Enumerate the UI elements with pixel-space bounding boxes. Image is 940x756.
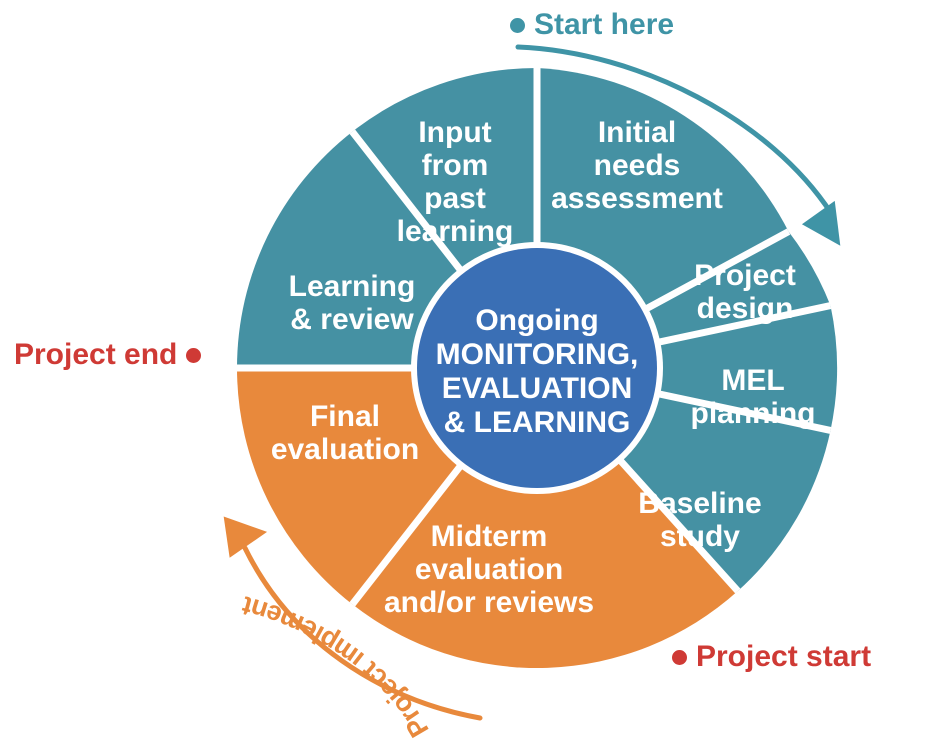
svg-text:design: design [697, 292, 794, 325]
svg-text:MONITORING,: MONITORING, [436, 338, 639, 371]
svg-text:& review: & review [290, 303, 414, 336]
project-start-label: Project start [696, 640, 871, 674]
project-end-label: Project end [14, 338, 177, 372]
svg-text:planning: planning [691, 397, 816, 430]
svg-text:Input: Input [418, 116, 491, 149]
svg-text:Initial: Initial [598, 116, 676, 149]
svg-text:Ongoing: Ongoing [475, 304, 598, 337]
svg-text:from: from [422, 149, 489, 182]
svg-text:and/or reviews: and/or reviews [384, 586, 594, 619]
svg-text:evaluation: evaluation [271, 433, 419, 466]
project-implementation-arrowhead [210, 515, 267, 567]
svg-text:Project: Project [694, 259, 796, 292]
svg-text:assessment: assessment [551, 182, 723, 215]
svg-text:Final: Final [310, 400, 380, 433]
diagram-canvas: Initial needs assessment Project design … [0, 0, 940, 756]
svg-text:Learning: Learning [289, 270, 416, 303]
annotation-project-end: Project end [14, 338, 201, 372]
svg-text:study: study [660, 520, 740, 553]
label-learning-and-review: Learning & review [289, 270, 416, 336]
svg-text:learning: learning [397, 215, 514, 248]
svg-text:EVALUATION: EVALUATION [442, 372, 633, 405]
start-here-label: Start here [534, 8, 674, 42]
project-end-dot-icon [186, 348, 201, 363]
svg-text:needs: needs [594, 149, 681, 182]
svg-text:Midterm: Midterm [431, 520, 548, 553]
annotation-start-here: Start here [510, 8, 674, 42]
start-here-dot-icon [510, 18, 525, 33]
annotation-project-start: Project start [672, 640, 871, 674]
svg-text:evaluation: evaluation [415, 553, 563, 586]
start-here-arrowhead [801, 192, 857, 245]
svg-text:MEL: MEL [721, 364, 784, 397]
svg-text:& LEARNING: & LEARNING [444, 406, 631, 439]
project-start-dot-icon [672, 650, 687, 665]
svg-text:Baseline: Baseline [638, 487, 761, 520]
label-project-design: Project design [694, 259, 796, 325]
svg-text:past: past [424, 182, 486, 215]
